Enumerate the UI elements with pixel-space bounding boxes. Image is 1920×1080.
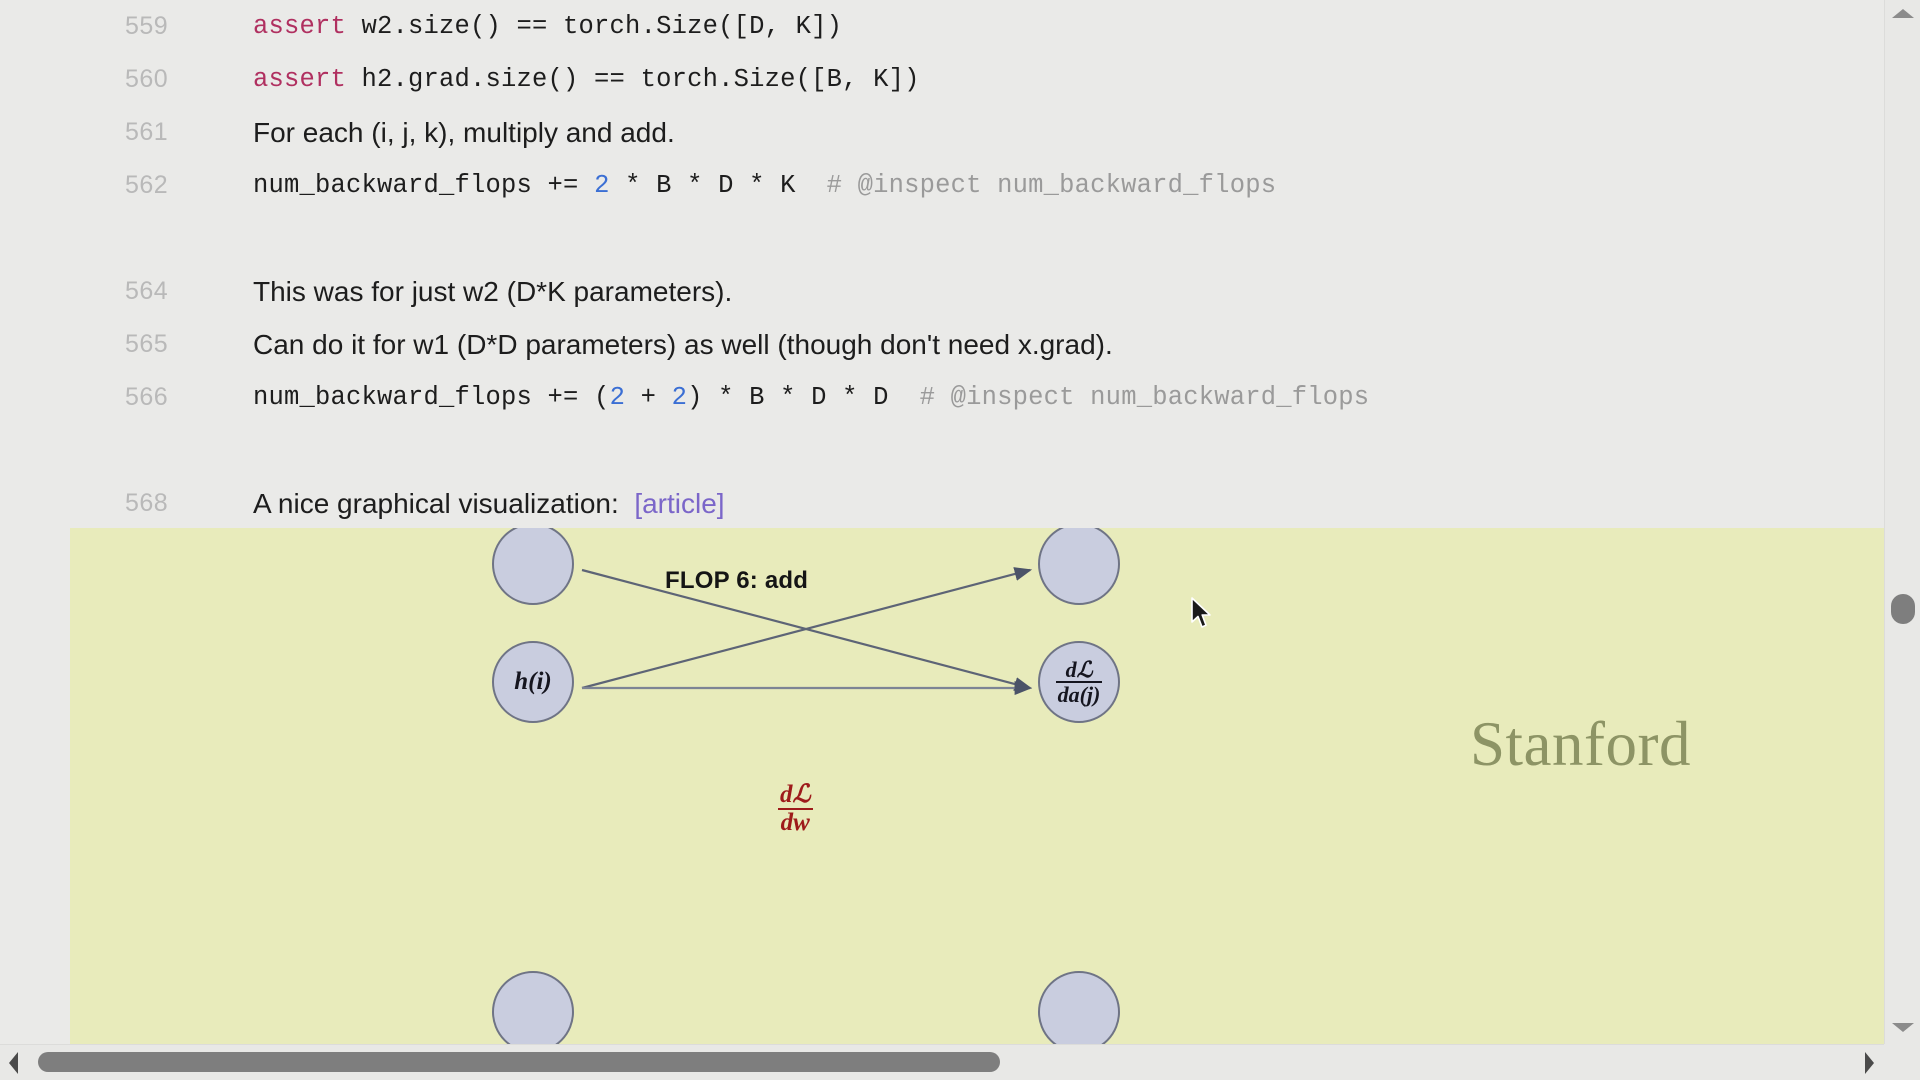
code-line: 568A nice graphical visualization: [arti…: [0, 477, 1884, 530]
diagram-node-left-middle: h(i): [492, 641, 574, 723]
code-line-text: num_backward_flops += (2 + 2) * B * D * …: [253, 371, 1369, 424]
code-token: * B * D * K: [610, 171, 827, 200]
code-line: 562num_backward_flops += 2 * B * D * K #…: [0, 159, 1884, 212]
code-token: ) * B * D * D: [687, 383, 920, 412]
line-number: 565: [125, 318, 195, 371]
code-line: 566num_backward_flops += (2 + 2) * B * D…: [0, 371, 1884, 424]
stanford-watermark: Stanford: [1470, 708, 1691, 781]
code-token: A nice graphical visualization:: [253, 488, 634, 519]
node-label: h(i): [514, 669, 552, 695]
vertical-scroll-thumb[interactable]: [1891, 594, 1915, 624]
code-token: 2: [672, 383, 688, 412]
application-window: 559assert w2.size() == torch.Size([D, K]…: [0, 0, 1920, 1080]
node-fraction-label: dℒ da(j): [1056, 658, 1103, 706]
slide-title: FLOP 6: add: [665, 567, 808, 595]
code-line: [0, 424, 1884, 477]
diagram-node-left-top: [492, 528, 574, 605]
code-line-text: This was for just w2 (D*K parameters).: [253, 265, 732, 318]
edge-fraction-denominator: dw: [778, 808, 813, 836]
fraction-numerator: dℒ: [1056, 658, 1103, 681]
code-token: This was for just w2 (D*K parameters).: [253, 276, 732, 307]
code-line-text: assert w2.size() == torch.Size([D, K]): [253, 0, 842, 53]
code-line-text: Can do it for w1 (D*D parameters) as wel…: [253, 318, 1113, 371]
edge-gradient-label: dℒ dw: [778, 782, 813, 837]
diagram-node-right-middle: dℒ da(j): [1038, 641, 1120, 723]
code-line: 560assert h2.grad.size() == torch.Size([…: [0, 53, 1884, 106]
fraction-denominator: da(j): [1056, 681, 1103, 706]
code-token: assert: [253, 12, 346, 41]
diagram-node-left-bottom: [492, 971, 574, 1048]
code-token: # @inspect num_backward_flops: [920, 383, 1370, 412]
code-line-text: assert h2.grad.size() == torch.Size([B, …: [253, 53, 920, 106]
diagram-node-right-top: [1038, 528, 1120, 605]
diagram-edges: [70, 528, 1884, 1048]
code-token: +: [625, 383, 672, 412]
code-line-text: A nice graphical visualization: [article…: [253, 477, 725, 530]
line-number: 560: [125, 53, 195, 106]
code-token: num_backward_flops +=: [253, 171, 594, 200]
code-line: 564This was for just w2 (D*K parameters)…: [0, 265, 1884, 318]
line-number: 564: [125, 265, 195, 318]
scroll-left-arrow-icon[interactable]: [9, 1052, 18, 1074]
line-number: 568: [125, 477, 195, 530]
vertical-scrollbar[interactable]: [1884, 0, 1920, 1044]
diagram-node-right-bottom: [1038, 971, 1120, 1048]
code-line: [0, 212, 1884, 265]
code-line: 565Can do it for w1 (D*D parameters) as …: [0, 318, 1884, 371]
code-token: assert: [253, 65, 346, 94]
code-token: For each (i, j, k), multiply and add.: [253, 117, 675, 148]
code-line-text: For each (i, j, k), multiply and add.: [253, 106, 675, 159]
code-token: 2: [610, 383, 626, 412]
line-number: 562: [125, 159, 195, 212]
scroll-down-arrow-icon[interactable]: [1892, 1023, 1914, 1032]
code-token: # @inspect num_backward_flops: [827, 171, 1277, 200]
article-link[interactable]: [article]: [634, 488, 724, 519]
code-token: 2: [594, 171, 610, 200]
code-token: h2.grad.size() == torch.Size([B, K]): [346, 65, 920, 94]
scroll-right-arrow-icon[interactable]: [1865, 1052, 1874, 1074]
edge-fraction-numerator: dℒ: [778, 782, 813, 808]
code-line: 559assert w2.size() == torch.Size([D, K]…: [0, 0, 1884, 53]
horizontal-scroll-thumb[interactable]: [38, 1052, 1000, 1072]
scroll-up-arrow-icon[interactable]: [1892, 9, 1914, 18]
line-number: 566: [125, 371, 195, 424]
line-number: 561: [125, 106, 195, 159]
code-token: Can do it for w1 (D*D parameters) as wel…: [253, 329, 1113, 360]
code-token: w2.size() == torch.Size([D, K]): [346, 12, 842, 41]
code-token: num_backward_flops += (: [253, 383, 610, 412]
scrollbar-corner: [1884, 1044, 1920, 1080]
horizontal-scrollbar[interactable]: [0, 1044, 1920, 1080]
code-line-list: 559assert w2.size() == torch.Size([D, K]…: [0, 0, 1884, 583]
code-line-text: num_backward_flops += 2 * B * D * K # @i…: [253, 159, 1276, 212]
line-number: 559: [125, 0, 195, 53]
code-line: 561For each (i, j, k), multiply and add.: [0, 106, 1884, 159]
slide-image-panel: h(i) dℒ da(j) Stanford: [70, 528, 1884, 1048]
